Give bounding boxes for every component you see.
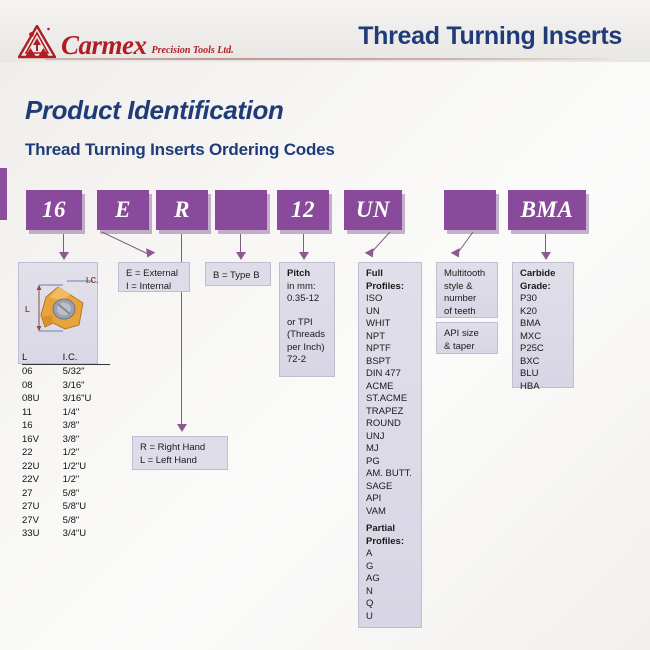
size-cell-l: 27U [22, 500, 47, 514]
api-line-1: API size [444, 328, 491, 341]
table-row: 08U3/16"U [22, 392, 110, 406]
connector-arrow-pitch [299, 252, 309, 260]
hand-type-box: E = External I = Internal [118, 262, 190, 292]
table-row: 083/16" [22, 379, 110, 393]
partial-profiles-list: A G AG N Q U [366, 548, 415, 623]
full-profiles-list: ISO UN WHIT NPT NPTF BSPT DIN 477 ACME S… [366, 293, 415, 518]
size-table-header-ic: I.C. [47, 352, 110, 365]
size-cell-l: 08U [22, 392, 47, 406]
api-box: API size & taper [436, 322, 498, 354]
page-subtitle: Thread Turning Inserts Ordering Codes [25, 140, 335, 160]
table-row: 27U5/8"U [22, 500, 110, 514]
pitch-box: Pitch in mm: 0.35-12 or TPI (Threads per… [279, 262, 335, 377]
size-cell-ic: 3/8" [47, 433, 110, 447]
size-cell-ic: 1/2"U [47, 460, 110, 474]
pitch-line-4: (Threads [287, 329, 328, 342]
size-cell-l: 22U [22, 460, 47, 474]
table-row: 221/2" [22, 446, 110, 460]
hand-type-line-1: E = External [126, 268, 183, 281]
connector-line-size [63, 234, 64, 254]
dimension-label-l: L [25, 305, 30, 314]
table-row: 163/8" [22, 419, 110, 433]
pitch-line-6: 72-2 [287, 354, 328, 367]
dimension-label-ic: I.C. [86, 276, 98, 285]
size-cell-ic: 5/8"U [47, 500, 110, 514]
table-row: 22V1/2" [22, 473, 110, 487]
type-line-1: B = Type B [213, 270, 264, 283]
header-title: Thread Turning Inserts [358, 22, 622, 51]
size-cell-ic: 3/16" [47, 379, 110, 393]
hand-type-line-2: I = Internal [126, 281, 183, 294]
code-box-hand-type[interactable]: E [97, 190, 149, 230]
connector-arrow-size [59, 252, 69, 260]
carbide-title-2: Grade: [520, 281, 551, 292]
hand-direction-line-2: L = Left Hand [140, 455, 221, 468]
size-cell-ic: 1/2" [47, 473, 110, 487]
pitch-line-1: in mm: [287, 281, 328, 294]
connector-arrow-direction [177, 424, 187, 432]
page-root: Carmex Precision Tools Ltd. Thread Turni… [0, 0, 650, 650]
connector-line-pitch [303, 234, 304, 254]
size-cell-ic: 5/8" [47, 514, 110, 528]
size-cell-l: 16 [22, 419, 47, 433]
header-divider [45, 58, 610, 60]
carbide-title-1: Carbide [520, 268, 555, 279]
brand-tagline: Precision Tools Ltd. [152, 45, 234, 59]
size-cell-ic: 5/8" [47, 487, 110, 501]
multitooth-line-1: Multitooth [444, 268, 491, 281]
size-cell-ic: 5/32" [47, 365, 110, 379]
table-row: 33U3/4"U [22, 527, 110, 541]
size-cell-l: 22 [22, 446, 47, 460]
purple-accent-bar [0, 168, 7, 220]
code-box-size[interactable]: 16 [26, 190, 82, 230]
size-cell-l: 22V [22, 473, 47, 487]
size-cell-ic: 3/8" [47, 419, 110, 433]
pitch-line-5: per Inch) [287, 342, 328, 355]
brand-logo: Carmex Precision Tools Ltd. [18, 25, 234, 59]
api-line-2: & taper [444, 341, 491, 354]
multitooth-line-3: number [444, 293, 491, 306]
connector-line-grade [545, 234, 546, 254]
connector-arrow-type [236, 252, 246, 260]
size-table: L I.C. 065/32"083/16"08U3/16"U111/4"163/… [22, 352, 110, 541]
code-box-profile[interactable]: UN [344, 190, 402, 230]
size-cell-l: 27V [22, 514, 47, 528]
code-box-direction[interactable]: R [156, 190, 208, 230]
pitch-line-2: 0.35-12 [287, 293, 328, 306]
table-row: 16V3/8" [22, 433, 110, 447]
type-box: B = Type B [205, 262, 271, 286]
size-cell-l: 08 [22, 379, 47, 393]
connector-line-hand [100, 232, 170, 260]
table-row: 27V5/8" [22, 514, 110, 528]
size-cell-ic: 1/4" [47, 406, 110, 420]
size-cell-ic: 3/16"U [47, 392, 110, 406]
table-row: 22U1/2"U [22, 460, 110, 474]
brand-name: Carmex [61, 32, 147, 59]
full-profiles-title-2: Profiles: [366, 281, 404, 292]
size-cell-l: 16V [22, 433, 47, 447]
size-cell-l: 11 [22, 406, 47, 420]
code-box-pitch[interactable]: 12 [277, 190, 329, 230]
page-header: Carmex Precision Tools Ltd. Thread Turni… [0, 0, 650, 68]
table-row: 065/32" [22, 365, 110, 379]
code-box-multitooth[interactable] [444, 190, 496, 230]
multitooth-line-2: style & [444, 281, 491, 294]
hand-direction-line-1: R = Right Hand [140, 442, 221, 455]
size-table-header-row: L I.C. [22, 352, 110, 365]
hand-direction-box: R = Right Hand L = Left Hand [132, 436, 228, 470]
multitooth-box: Multitooth style & number of teeth [436, 262, 498, 318]
table-row: 275/8" [22, 487, 110, 501]
size-table-header-l: L [22, 352, 47, 365]
page-title: Product Identification [25, 95, 283, 126]
table-row: 111/4" [22, 406, 110, 420]
size-cell-l: 27 [22, 487, 47, 501]
size-cell-l: 33U [22, 527, 47, 541]
size-cell-ic: 3/4"U [47, 527, 110, 541]
carbide-grade-box: Carbide Grade: P30 K20 BMA MXC P25C BXC … [512, 262, 574, 388]
profiles-box: Full Profiles: ISO UN WHIT NPT NPTF BSPT… [358, 262, 422, 628]
size-cell-ic: 1/2" [47, 446, 110, 460]
carmex-triangle-logo-icon [18, 25, 56, 59]
connector-arrow-grade [541, 252, 551, 260]
connector-line-type [240, 234, 241, 254]
carbide-grade-list: P30 K20 BMA MXC P25C BXC BLU HBA [520, 293, 567, 393]
multitooth-line-4: of teeth [444, 306, 491, 319]
pitch-title: Pitch [287, 268, 310, 279]
code-box-grade[interactable]: BMA [508, 190, 586, 230]
full-profiles-title-1: Full [366, 268, 383, 279]
partial-profiles-title-1: Partial [366, 523, 395, 534]
code-box-type[interactable] [215, 190, 267, 230]
pitch-line-3: or TPI [287, 317, 328, 330]
partial-profiles-title-2: Profiles: [366, 536, 404, 547]
size-cell-l: 06 [22, 365, 47, 379]
